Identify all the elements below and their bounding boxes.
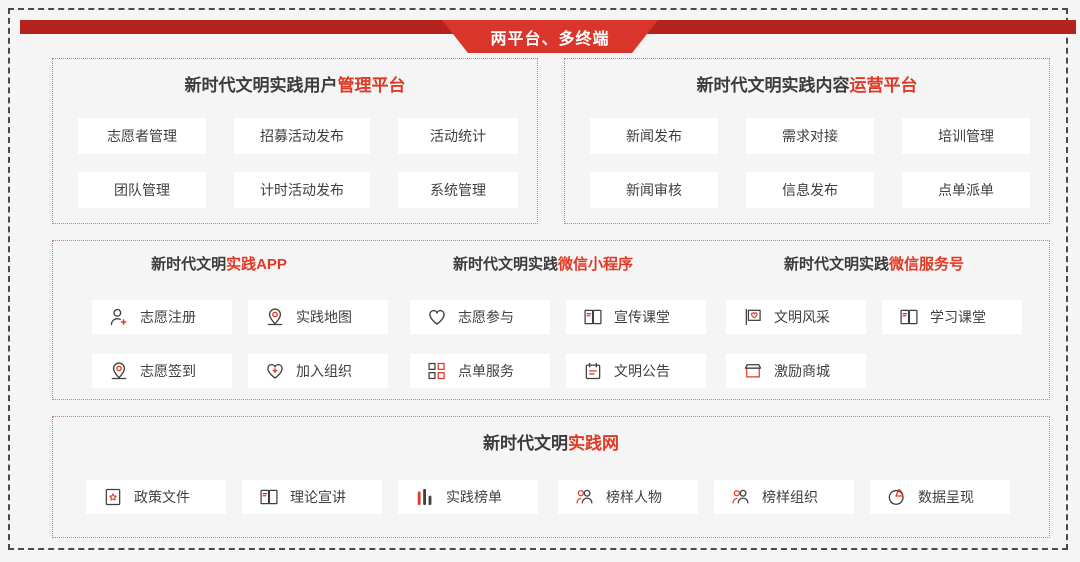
title-plain-text: 新时代文明 xyxy=(483,434,568,453)
button-order-service[interactable]: 点单服务 xyxy=(410,354,550,388)
button-practice-map[interactable]: 实践地图 xyxy=(248,300,388,334)
title-plain-text: 新时代文明实践用户 xyxy=(185,76,338,95)
button-label: 榜样人物 xyxy=(606,490,662,504)
button-label: 志愿签到 xyxy=(140,364,196,378)
button-incentive-mall[interactable]: 激励商城 xyxy=(726,354,866,388)
button-label: 学习课堂 xyxy=(930,310,986,324)
button-recruit-activity-publish[interactable]: 招募活动发布 xyxy=(234,118,370,154)
button-demand-matching[interactable]: 需求对接 xyxy=(746,118,874,154)
button-label: 数据呈现 xyxy=(918,490,974,504)
button-civilization-announcement[interactable]: 文明公告 xyxy=(566,354,706,388)
title-plain-text: 新时代文明实践 xyxy=(453,256,558,273)
panel-user-platform-title: 新时代文明实践用户管理平台 xyxy=(53,71,537,96)
column-title-service-account: 新时代文明实践微信服务号 xyxy=(709,253,1039,274)
button-civilization-style[interactable]: 文明风采 xyxy=(726,300,866,334)
button-volunteer-participation[interactable]: 志愿参与 xyxy=(410,300,550,334)
title-accent-text: 微信服务号 xyxy=(889,256,964,273)
column-title-miniprogram: 新时代文明实践微信小程序 xyxy=(393,253,693,274)
button-data-presentation[interactable]: 数据呈现 xyxy=(870,480,1010,514)
button-news-review[interactable]: 新闻审核 xyxy=(590,172,718,208)
button-label: 文明公告 xyxy=(614,364,670,378)
pie-chart-icon xyxy=(886,486,908,508)
heart-icon xyxy=(426,306,448,328)
button-join-organization[interactable]: 加入组织 xyxy=(248,354,388,388)
button-label: 理论宣讲 xyxy=(290,490,346,504)
button-system-management[interactable]: 系统管理 xyxy=(398,172,518,208)
button-publicity-classroom[interactable]: 宣传课堂 xyxy=(566,300,706,334)
diagram-frame: 两平台、多终端 新时代文明实践用户管理平台 新时代文明实践内容运营平台 新时代文… xyxy=(8,8,1068,550)
title-accent-text: 管理平台 xyxy=(338,76,406,95)
button-study-classroom[interactable]: 学习课堂 xyxy=(882,300,1022,334)
title-accent-text: 实践APP xyxy=(226,256,287,273)
panel-content-platform-title: 新时代文明实践内容运营平台 xyxy=(565,71,1049,96)
calendar-icon xyxy=(582,360,604,382)
button-order-dispatch[interactable]: 点单派单 xyxy=(902,172,1030,208)
open-book-icon xyxy=(258,486,280,508)
open-book-icon xyxy=(582,306,604,328)
title-plain-text: 新时代文明 xyxy=(151,256,226,273)
button-practice-ranking[interactable]: 实践榜单 xyxy=(398,480,538,514)
title-plain-text: 新时代文明实践 xyxy=(784,256,889,273)
button-volunteer-management[interactable]: 志愿者管理 xyxy=(78,118,206,154)
panel-web: 新时代文明实践网 xyxy=(52,416,1050,538)
button-label: 文明风采 xyxy=(774,310,830,324)
button-news-publish[interactable]: 新闻发布 xyxy=(590,118,718,154)
heart-plus-icon xyxy=(264,360,286,382)
button-theory-lecture[interactable]: 理论宣讲 xyxy=(242,480,382,514)
document-star-icon xyxy=(102,486,124,508)
title-plain-text: 新时代文明实践内容 xyxy=(697,76,850,95)
button-role-model-people[interactable]: 榜样人物 xyxy=(558,480,698,514)
button-label: 榜样组织 xyxy=(762,490,818,504)
org-chart-icon xyxy=(426,360,448,382)
button-timed-activity-publish[interactable]: 计时活动发布 xyxy=(234,172,370,208)
two-people-icon xyxy=(574,486,596,508)
title-accent-text: 运营平台 xyxy=(850,76,918,95)
button-role-model-organizations[interactable]: 榜样组织 xyxy=(714,480,854,514)
map-pin-icon xyxy=(108,360,130,382)
button-label: 点单服务 xyxy=(458,364,514,378)
button-label: 实践榜单 xyxy=(446,490,502,504)
map-pin-icon xyxy=(264,306,286,328)
button-volunteer-checkin[interactable]: 志愿签到 xyxy=(92,354,232,388)
button-label: 宣传课堂 xyxy=(614,310,670,324)
banner-title: 两平台、多终端 xyxy=(442,20,658,53)
two-people-icon xyxy=(730,486,752,508)
bar-chart-icon xyxy=(414,486,436,508)
user-plus-icon xyxy=(108,306,130,328)
title-accent-text: 实践网 xyxy=(568,434,619,453)
button-policy-documents[interactable]: 政策文件 xyxy=(86,480,226,514)
button-label: 志愿参与 xyxy=(458,310,514,324)
button-label: 志愿注册 xyxy=(140,310,196,324)
button-label: 政策文件 xyxy=(134,490,190,504)
flag-heart-icon xyxy=(742,306,764,328)
open-book-icon xyxy=(898,306,920,328)
panel-web-title: 新时代文明实践网 xyxy=(53,429,1049,454)
title-accent-text: 微信小程序 xyxy=(558,256,633,273)
column-title-app: 新时代文明实践APP xyxy=(61,253,377,274)
button-volunteer-register[interactable]: 志愿注册 xyxy=(92,300,232,334)
shop-icon xyxy=(742,360,764,382)
button-label: 激励商城 xyxy=(774,364,830,378)
button-team-management[interactable]: 团队管理 xyxy=(78,172,206,208)
button-activity-statistics[interactable]: 活动统计 xyxy=(398,118,518,154)
button-label: 加入组织 xyxy=(296,364,352,378)
button-label: 实践地图 xyxy=(296,310,352,324)
button-training-management[interactable]: 培训管理 xyxy=(902,118,1030,154)
button-info-publish[interactable]: 信息发布 xyxy=(746,172,874,208)
